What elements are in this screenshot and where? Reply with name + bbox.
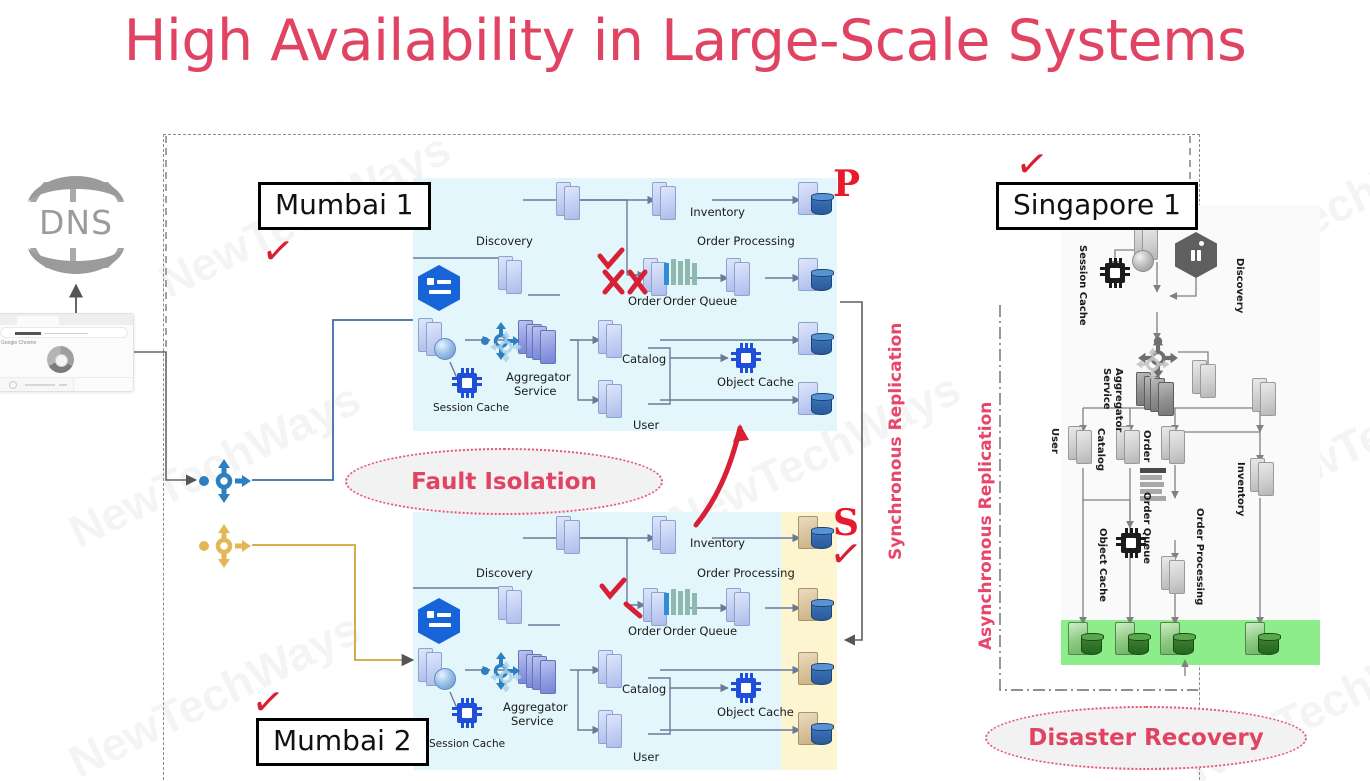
label-catalog-mumbai2: Catalog	[622, 682, 666, 696]
label-order-processing-mumbai1: Order Processing	[697, 234, 795, 248]
inventory-db-mumbai1	[798, 182, 832, 218]
footer-circle-icon	[9, 381, 17, 389]
label-user-mumbai2: User	[633, 750, 659, 764]
region-label-mumbai2[interactable]: Mumbai 2	[256, 718, 429, 766]
footer-panel	[73, 378, 134, 392]
label-aggregator-singapore: Aggregator	[1113, 368, 1124, 432]
session-cache-icon-mumbai2	[452, 698, 482, 728]
order-db-mumbai1	[798, 258, 832, 294]
label-discovery-singapore: Discovery	[1234, 258, 1245, 313]
label-order-mumbai1: Order	[628, 294, 661, 308]
catalog-db-singapore	[1115, 622, 1149, 658]
label-order-processing-singapore: Order Processing	[1194, 508, 1205, 605]
label-aggregator-service-mumbai1: Service	[514, 384, 557, 398]
async-replication-label: Asynchronous Replication	[976, 402, 996, 650]
browser-address-bar[interactable]	[0, 327, 128, 338]
label-order-queue-singapore: Order Queue	[1141, 492, 1152, 564]
order-queue-icon-mumbai1	[664, 259, 697, 285]
sync-replication-label: Synchronous Replication	[886, 323, 906, 560]
footer-line	[25, 384, 55, 386]
address-text-faded	[44, 333, 88, 334]
concept-fault-isolation: Fault Isolation	[345, 448, 663, 515]
slide-canvas: NewTechWays NewTechWays NewTechWays NewT…	[0, 0, 1370, 781]
dns-label: DNS	[22, 203, 130, 242]
browser-footer	[0, 377, 133, 391]
check-mark-mumbai1: ✓	[260, 230, 297, 272]
label-order-queue-mumbai1: Order Queue	[663, 294, 737, 308]
globe-icon-mumbai2	[434, 668, 456, 690]
label-catalog-singapore: Catalog	[1095, 428, 1106, 471]
label-order-mumbai2: Order	[628, 624, 661, 638]
user-db-mumbai1	[798, 382, 832, 418]
label-inventory-mumbai2: Inventory	[690, 536, 745, 550]
label-discovery-mumbai2: Discovery	[476, 566, 533, 580]
label-aggregator-service-mumbai2: Service	[511, 714, 554, 728]
region-label-singapore1[interactable]: Singapore 1	[996, 182, 1198, 230]
order-db-mumbai2	[798, 588, 832, 624]
label-order-singapore: Order	[1141, 430, 1152, 462]
standby-load-balancer-icon[interactable]	[195, 523, 253, 569]
session-cache-icon-singapore	[1100, 258, 1130, 288]
inventory-db-singapore	[1245, 622, 1279, 658]
internal-lb-icon-mumbai2	[480, 650, 522, 692]
inventory-db-mumbai2	[798, 516, 832, 552]
chrome-logo-icon	[47, 346, 74, 373]
label-aggregator-mumbai2: Aggregator	[503, 700, 568, 714]
globe-icon-mumbai1	[434, 338, 456, 360]
order-db-singapore	[1160, 622, 1194, 658]
catalog-db-mumbai2	[798, 652, 832, 688]
label-object-cache-mumbai1: Object Cache	[717, 375, 794, 389]
label-order-queue-mumbai2: Order Queue	[663, 624, 737, 638]
label-session-cache-mumbai2: Session Cache	[429, 738, 505, 750]
internal-lb-icon-mumbai1	[480, 320, 522, 362]
primary-marker-mumbai1: P	[833, 166, 860, 202]
client-browser-window[interactable]: Google Chrome	[0, 313, 134, 392]
order-queue-icon-mumbai2	[664, 589, 697, 615]
label-inventory-mumbai1: Inventory	[690, 205, 745, 219]
label-object-cache-mumbai2: Object Cache	[717, 705, 794, 719]
primary-load-balancer-icon[interactable]	[195, 458, 253, 504]
label-aggregator-service-singapore: Service	[1101, 368, 1112, 410]
label-user-mumbai1: User	[633, 418, 659, 432]
object-cache-icon-mumbai2	[731, 673, 761, 703]
check-mark-secondary-db: ✓	[828, 533, 865, 575]
concept-disaster-recovery: Disaster Recovery	[985, 706, 1307, 770]
label-session-cache-singapore: Session Cache	[1077, 245, 1088, 326]
browser-tabbar	[0, 314, 133, 325]
catalog-db-mumbai1	[798, 322, 832, 358]
label-discovery-mumbai1: Discovery	[476, 234, 533, 248]
label-user-singapore: User	[1049, 428, 1060, 454]
region-label-mumbai1[interactable]: Mumbai 1	[258, 182, 431, 230]
footer-line	[59, 384, 67, 386]
object-cache-icon-mumbai1	[731, 343, 761, 373]
user-db-singapore	[1068, 622, 1102, 658]
browser-tab[interactable]	[17, 316, 59, 325]
label-aggregator-mumbai1: Aggregator	[506, 370, 571, 384]
label-session-cache-mumbai1: Session Cache	[433, 402, 509, 414]
address-text-placeholder	[15, 332, 41, 335]
label-order-processing-mumbai2: Order Processing	[697, 566, 795, 580]
user-db-mumbai2	[798, 712, 832, 748]
internal-lb-icon-singapore	[1136, 336, 1180, 380]
browser-brand-label: Google Chrome	[1, 340, 133, 346]
check-mark-singapore1: ✓	[1014, 143, 1051, 185]
label-inventory-singapore: Inventory	[1235, 462, 1246, 516]
session-cache-icon-mumbai1	[452, 368, 482, 398]
label-object-cache-singapore: Object Cache	[1097, 528, 1108, 602]
check-mark-mumbai2: ✓	[250, 681, 287, 723]
label-catalog-mumbai1: Catalog	[622, 352, 666, 366]
globe-icon-singapore	[1132, 250, 1154, 272]
